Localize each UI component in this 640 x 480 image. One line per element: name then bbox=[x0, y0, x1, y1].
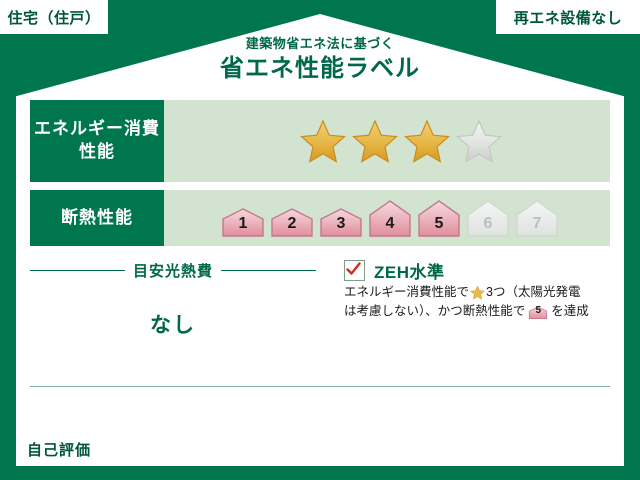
energy-cost-value: なし bbox=[30, 309, 316, 339]
check-icon bbox=[346, 262, 361, 277]
lower-section: 目安光熱費 なし ZEH水準 エネルギー消費性能で bbox=[30, 256, 610, 368]
self-evaluation-badge: 自己評価 bbox=[20, 436, 98, 463]
zeh-description-line-1: エネルギー消費性能で 3つ（太陽光発電 bbox=[344, 283, 610, 302]
insulation-level-badge: 5 bbox=[416, 198, 462, 238]
zeh-desc-text: を達成 bbox=[551, 302, 589, 321]
page-title: 省エネ性能ラベル bbox=[0, 54, 640, 84]
star-icon bbox=[404, 119, 450, 163]
insulation-level-number: 5 bbox=[416, 215, 462, 233]
zeh-desc-text: は考慮しない）、かつ断熱性能で bbox=[344, 302, 525, 321]
star-icon-empty bbox=[456, 119, 502, 163]
insulation-level-badge: 1 bbox=[220, 206, 266, 238]
insulation-level-number: 7 bbox=[514, 215, 560, 233]
insulation-performance-value: 1 2 3 4 bbox=[164, 190, 610, 246]
zeh-desc-text: エネルギー消費性能で bbox=[344, 283, 469, 302]
energy-performance-label: 住宅（住戸） 再エネ設備なし 建築物省エネ法に基づく 省エネ性能ラベル エネルギ… bbox=[0, 0, 640, 480]
energy-performance-row: エネルギー消費性能 bbox=[30, 100, 610, 182]
energy-cost-section: 目安光熱費 なし bbox=[30, 256, 326, 368]
insulation-performance-label: 断熱性能 bbox=[30, 190, 164, 246]
title-subtitle: 建築物省エネ法に基づく bbox=[0, 36, 640, 52]
building-type-tag: 住宅（住戸） bbox=[0, 0, 108, 34]
star-icon bbox=[300, 119, 346, 163]
section-divider bbox=[30, 386, 610, 387]
star-icon bbox=[352, 119, 398, 163]
insulation-level-number: 2 bbox=[269, 215, 315, 233]
footer-left: 自己評価 ハートフルタウン 高崎市倉賀野町2148番（前橋）A号棟 bbox=[20, 436, 417, 463]
insulation-level-badge: 3 bbox=[318, 206, 364, 238]
star-rating bbox=[300, 119, 502, 163]
zeh-title: ZEH水準 bbox=[374, 258, 445, 283]
zeh-desc-text: 3つ（太陽光発電 bbox=[486, 283, 580, 302]
footer-right: 評価日 2026年2月24日 c1b2484a-607d-4b9c bbox=[475, 432, 624, 466]
footer: 自己評価 ハートフルタウン 高崎市倉賀野町2148番（前橋）A号棟 評価日 20… bbox=[0, 424, 640, 480]
insulation-level-badge-inline: 5 bbox=[528, 305, 548, 320]
energy-performance-value bbox=[164, 100, 610, 182]
insulation-level-number: 4 bbox=[367, 215, 413, 233]
insulation-level-badge-inactive: 7 bbox=[514, 198, 560, 238]
property-name: ハートフルタウン 高崎市倉賀野町2148番（前橋）A号棟 bbox=[107, 441, 417, 458]
renewable-energy-tag: 再エネ設備なし bbox=[496, 0, 640, 34]
star-icon bbox=[470, 285, 485, 300]
zeh-description-line-2: は考慮しない）、かつ断熱性能で 5 を達成 bbox=[344, 302, 610, 321]
evaluation-id: c1b2484a-607d-4b9c bbox=[475, 455, 624, 466]
insulation-level-number: 6 bbox=[465, 215, 511, 233]
insulation-performance-row: 断熱性能 1 bbox=[30, 190, 610, 246]
zeh-checkbox[interactable] bbox=[344, 260, 365, 281]
label-content: エネルギー消費性能 bbox=[30, 100, 610, 387]
energy-cost-heading: 目安光熱費 bbox=[30, 260, 316, 281]
insulation-level-badge-inactive: 6 bbox=[465, 198, 511, 238]
insulation-level-number: 3 bbox=[318, 215, 364, 233]
zeh-section: ZEH水準 エネルギー消費性能で 3つ（太陽光発電 は考慮しない）、かつ断熱性能… bbox=[326, 256, 610, 368]
energy-performance-label: エネルギー消費性能 bbox=[30, 100, 164, 182]
insulation-level-number: 5 bbox=[528, 303, 548, 319]
insulation-level-scale: 1 2 3 4 bbox=[220, 198, 560, 238]
insulation-level-number: 1 bbox=[220, 215, 266, 233]
evaluation-date: 評価日 2026年2月24日 bbox=[475, 432, 624, 452]
title-block: 建築物省エネ法に基づく 省エネ性能ラベル bbox=[0, 36, 640, 84]
insulation-level-badge: 4 bbox=[367, 198, 413, 238]
zeh-header: ZEH水準 bbox=[344, 258, 610, 283]
insulation-level-badge: 2 bbox=[269, 206, 315, 238]
